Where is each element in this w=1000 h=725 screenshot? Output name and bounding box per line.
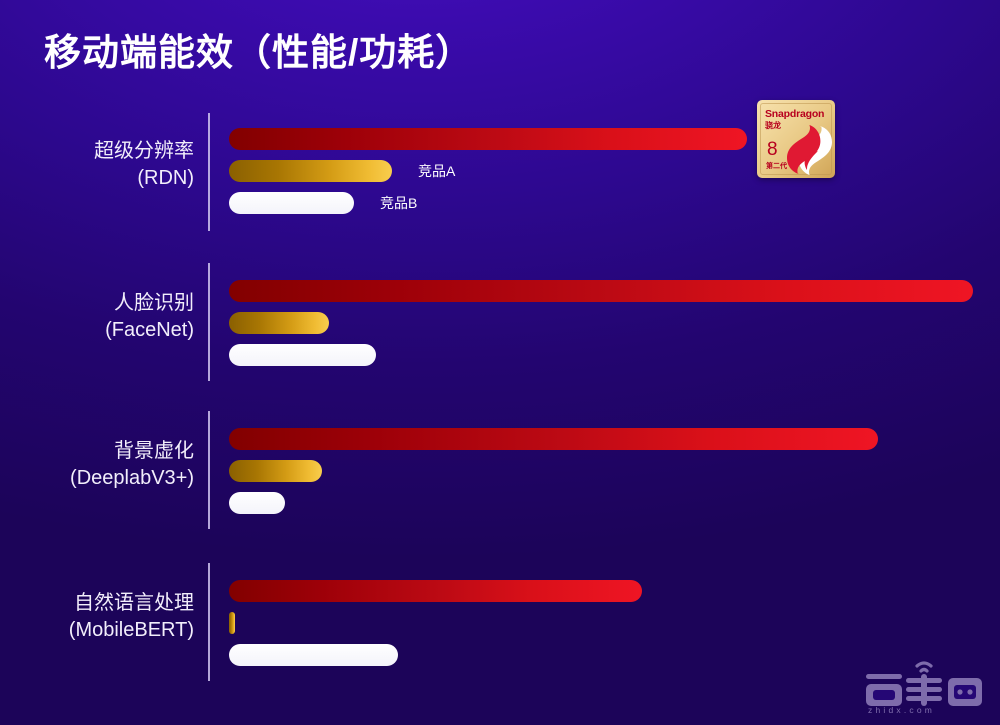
chart-group: 超级分辨率(RDN)竞品A竞品B [0,105,1000,240]
chart-group: 人脸识别(FaceNet) [0,257,1000,392]
category-label-line1: 人脸识别 [114,292,194,314]
chart-group: 背景虚化(DeeplabV3+) [0,405,1000,540]
bar-competitor-a [229,312,329,334]
bar-competitor-b [229,192,354,214]
category-label-line2: (RDN) [0,165,194,192]
bar-competitor-b [229,344,376,366]
bar-competitor-a [229,160,392,182]
badge-brand-cn-label: 骁龙 [765,120,781,131]
axis-tick-line [208,563,210,681]
watermark-url: zhidx.com [868,705,935,713]
axis-tick-line [208,263,210,381]
page-title: 移动端能效（性能/功耗） [44,22,473,76]
category-label: 背景虚化(DeeplabV3+) [0,438,194,492]
bar-snapdragon [229,580,642,602]
category-label-line2: (DeeplabV3+) [0,465,194,492]
category-label-line1: 超级分辨率 [94,140,194,162]
axis-tick-line [208,113,210,231]
category-label: 超级分辨率(RDN) [0,138,194,192]
snapdragon-chip-badge: Snapdragon 骁龙 8 第二代 [757,100,835,178]
bar-competitor-a [229,460,322,482]
category-label-line2: (MobileBERT) [0,617,194,644]
bar-chart: 超级分辨率(RDN)竞品A竞品B人脸识别(FaceNet)背景虚化(Deepla… [0,105,1000,690]
category-label: 自然语言处理(MobileBERT) [0,590,194,644]
category-label-line2: (FaceNet) [0,317,194,344]
bar-snapdragon [229,128,747,150]
zhidx-watermark: zhidx.com [860,657,988,713]
badge-brand-label: Snapdragon [765,108,824,120]
snapdragon-s-logo-icon [787,122,833,178]
axis-tick-line [208,411,210,529]
legend-competitor-a: 竞品A [418,160,455,182]
bar-snapdragon [229,280,973,302]
bar-competitor-a [229,612,235,634]
chart-group: 自然语言处理(MobileBERT) [0,557,1000,692]
legend-competitor-b: 竞品B [380,192,417,214]
category-label: 人脸识别(FaceNet) [0,290,194,344]
badge-number-label: 8 [767,140,778,159]
bar-competitor-b [229,644,398,666]
badge-generation-label: 第二代 [766,161,787,171]
bar-snapdragon [229,428,878,450]
category-label-line1: 自然语言处理 [74,592,194,614]
bar-competitor-b [229,492,285,514]
category-label-line1: 背景虚化 [114,440,194,462]
